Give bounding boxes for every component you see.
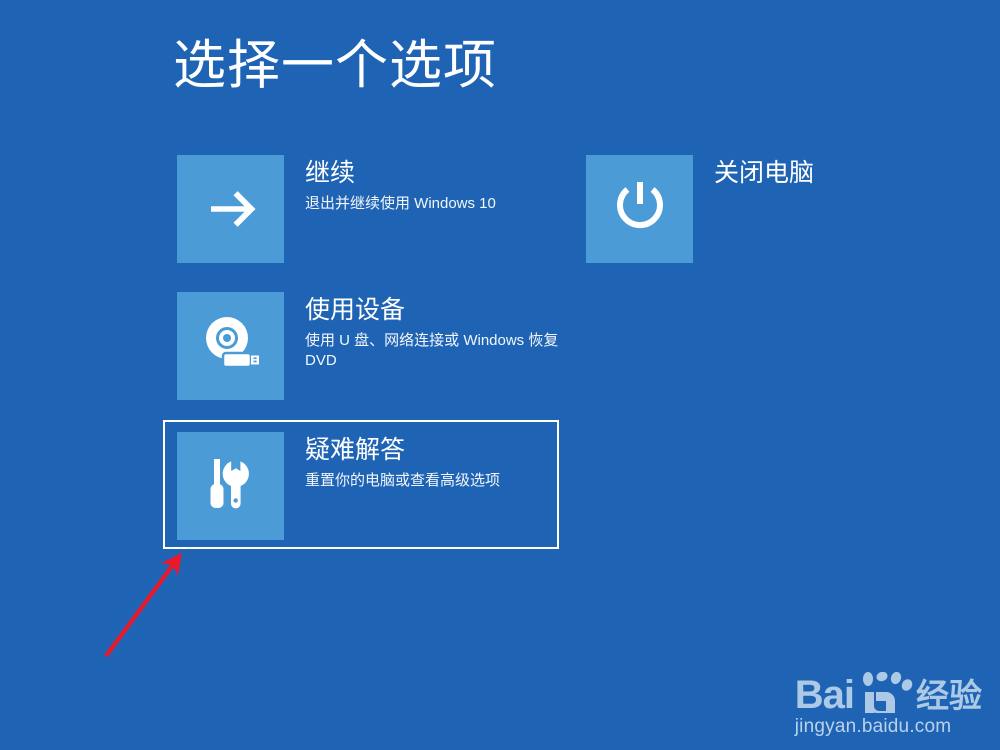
option-use-a-device-tile	[177, 292, 284, 400]
arrow-right-icon	[199, 175, 263, 244]
option-use-a-device-labels: 使用设备 使用 U 盘、网络连接或 Windows 恢复 DVD	[305, 292, 567, 372]
option-troubleshoot-labels: 疑难解答 重置你的电脑或查看高级选项	[305, 432, 500, 491]
option-use-a-device-title: 使用设备	[305, 295, 567, 325]
recovery-screen: 选择一个选项 继续 退出并继续使用 Windows 10	[0, 0, 1000, 750]
power-icon	[607, 174, 673, 245]
option-use-a-device[interactable]: 使用设备 使用 U 盘、网络连接或 Windows 恢复 DVD	[177, 292, 567, 400]
option-troubleshoot[interactable]: 疑难解答 重置你的电脑或查看高级选项	[177, 432, 500, 540]
option-troubleshoot-tile	[177, 432, 284, 540]
screwdriver-wrench-icon	[200, 453, 262, 520]
option-continue-description: 退出并继续使用 Windows 10	[305, 194, 496, 214]
watermark-brand-latin: Bai	[795, 676, 854, 714]
option-troubleshoot-selection-box[interactable]: 疑难解答 重置你的电脑或查看高级选项	[163, 420, 559, 549]
disc-usb-device-icon	[197, 310, 265, 383]
option-turn-off-pc-labels: 关闭电脑	[714, 155, 814, 194]
annotation-arrow-icon	[90, 535, 220, 670]
option-continue-labels: 继续 退出并继续使用 Windows 10	[305, 155, 496, 214]
option-continue[interactable]: 继续 退出并继续使用 Windows 10	[177, 155, 496, 263]
watermark-url: jingyan.baidu.com	[795, 716, 982, 738]
option-troubleshoot-title: 疑难解答	[305, 435, 500, 465]
option-continue-tile	[177, 155, 284, 263]
watermark-logo: Bai 经验	[795, 672, 982, 714]
option-turn-off-pc[interactable]: 关闭电脑	[586, 155, 814, 263]
baidu-paw-icon	[857, 672, 913, 714]
watermark-brand-cn: 经验	[916, 678, 982, 714]
option-turn-off-pc-title: 关闭电脑	[714, 158, 814, 188]
option-continue-title: 继续	[305, 158, 496, 188]
watermark: Bai 经验 jingyan.baidu.com	[795, 672, 982, 738]
option-troubleshoot-description: 重置你的电脑或查看高级选项	[305, 471, 500, 491]
page-title: 选择一个选项	[173, 36, 497, 95]
option-turn-off-pc-tile	[586, 155, 693, 263]
option-use-a-device-description: 使用 U 盘、网络连接或 Windows 恢复 DVD	[305, 331, 567, 372]
